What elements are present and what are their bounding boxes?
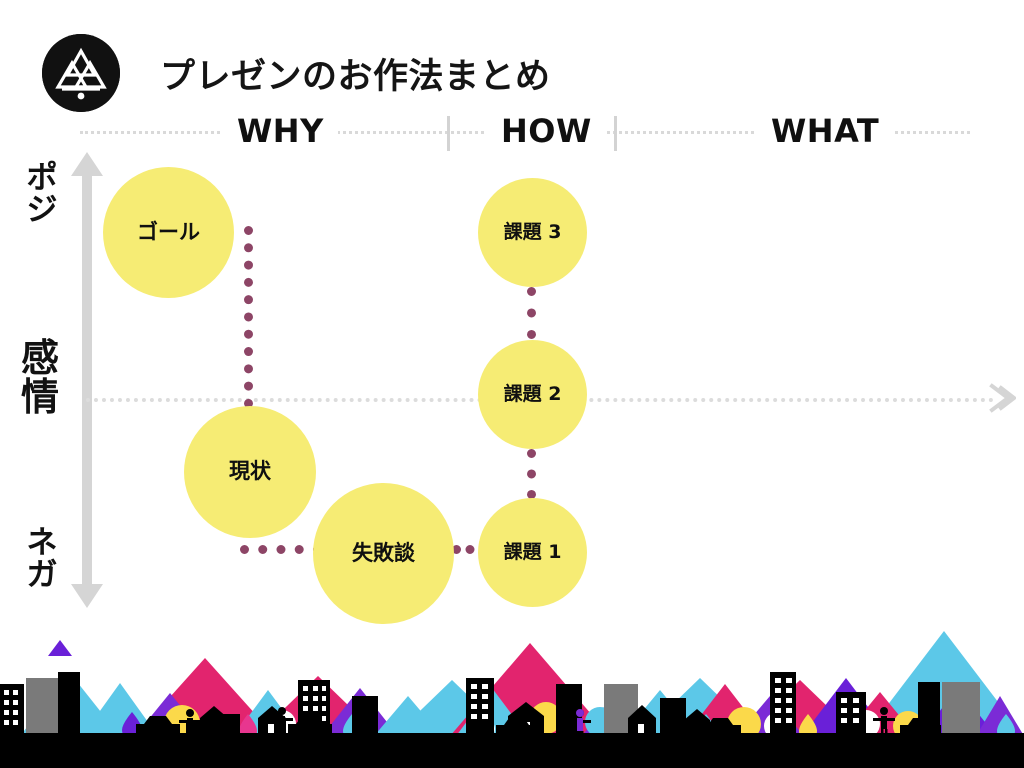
emotion-axis-arrow-icon (70, 150, 104, 610)
node-genjo[interactable]: 現状 (184, 406, 316, 538)
emotion-label-positive: ポジ (14, 163, 70, 226)
phase-label-what: WHAT (757, 112, 893, 150)
node-kadai3[interactable]: 課題 3 (478, 178, 587, 287)
node-shippai[interactable]: 失敗談 (313, 483, 454, 624)
connector-genjo-to-shippai (240, 545, 322, 554)
valknut-triangle-logo-icon (42, 34, 120, 112)
emotion-label-axis: 感情 (8, 339, 72, 417)
node-kadai3-label: 課題 3 (504, 222, 562, 243)
node-genjo-label: 現状 (229, 460, 271, 483)
node-shippai-label: 失敗談 (352, 542, 415, 565)
node-kadai1[interactable]: 課題 1 (478, 498, 587, 607)
timeline-arrow-icon (988, 381, 1016, 415)
phase-label-how: HOW (487, 112, 606, 150)
connector-goal-to-genjo (244, 226, 253, 408)
page-title: プレゼンのお作法まとめ (160, 48, 551, 99)
emotion-label-negative: ネガ (14, 528, 70, 591)
node-kadai2-label: 課題 2 (504, 384, 562, 405)
node-kadai1-label: 課題 1 (504, 542, 562, 563)
connector-kadai1-to-kadai2 (527, 449, 536, 499)
connector-kadai2-to-kadai3 (527, 287, 536, 339)
node-goal[interactable]: ゴール (103, 167, 234, 298)
cityscape-footer-illustration (0, 618, 1024, 768)
phase-divider-how-what (614, 116, 617, 151)
phase-label-why: WHY (223, 112, 338, 150)
node-kadai2[interactable]: 課題 2 (478, 340, 587, 449)
phase-divider-why-how (447, 116, 450, 151)
node-goal-label: ゴール (137, 221, 200, 244)
slide-canvas: プレゼンのお作法まとめ WHY HOW WHAT ポジ 感情 ネガ (0, 0, 1024, 768)
